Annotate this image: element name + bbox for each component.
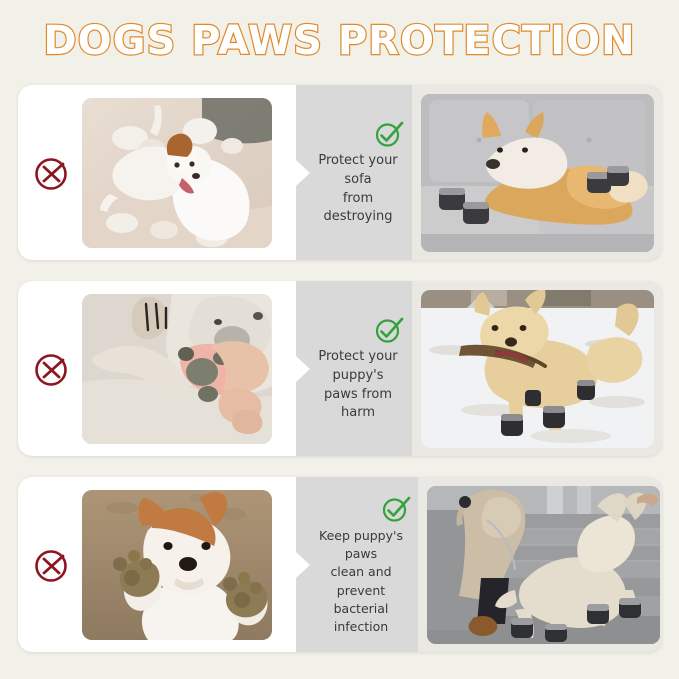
page-title: DOGS PAWS PROTECTION: [43, 18, 635, 64]
circle-cross-icon: [26, 343, 78, 395]
problem-photo: [82, 98, 272, 248]
benefit-card: [412, 85, 662, 260]
benefit-text-pane: Protect your sofa from destroying: [296, 85, 412, 260]
circle-check-icon: [373, 314, 405, 346]
problem-card: [18, 477, 296, 652]
benefit-caption: Protect your puppy's paws from harm: [310, 348, 406, 423]
circle-check-icon: [380, 493, 412, 525]
circle-cross-icon: [26, 539, 78, 591]
arrow-right-icon: [295, 552, 309, 578]
problem-photo: [82, 294, 272, 444]
page-title-wrap: DOGS PAWS PROTECTION: [0, 14, 679, 68]
benefit-photo: [421, 290, 654, 448]
problem-card: [18, 85, 296, 260]
arrow-right-icon: [295, 160, 309, 186]
benefit-card: [418, 477, 662, 652]
arrow-right-icon: [295, 356, 309, 382]
benefit-photo: [427, 486, 660, 644]
benefit-card: [412, 281, 662, 456]
circle-check-icon: [373, 118, 405, 150]
benefit-text-pane: Protect your puppy's paws from harm: [296, 281, 412, 456]
benefit-row: Keep puppy's paws clean and prevent bact…: [18, 477, 662, 652]
benefit-photo: [421, 94, 654, 252]
benefit-caption: Protect your sofa from destroying: [310, 152, 406, 227]
problem-card: [18, 281, 296, 456]
circle-cross-icon: [26, 147, 78, 199]
benefit-row: Protect your puppy's paws from harm: [18, 281, 662, 456]
benefit-text-pane: Keep puppy's paws clean and prevent bact…: [296, 477, 418, 652]
problem-photo: [82, 490, 272, 640]
benefit-caption: Keep puppy's paws clean and prevent bact…: [310, 527, 412, 636]
infographic-page: DOGS PAWS PROTECTION: [0, 0, 679, 679]
benefit-row: Protect your sofa from destroying: [18, 85, 662, 260]
